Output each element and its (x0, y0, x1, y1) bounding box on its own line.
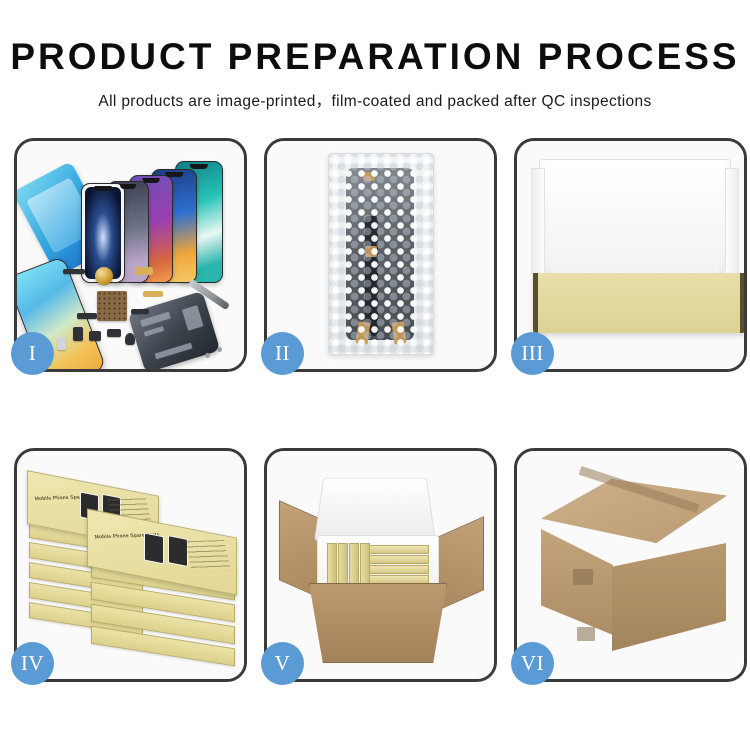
foam-sheet-icon (551, 187, 719, 273)
step-badge-6: VI (511, 642, 554, 685)
carton-body-icon (309, 583, 447, 663)
gold-flex-icon (135, 267, 153, 275)
flex-part-icon (107, 329, 121, 337)
step-panel-6: VI (514, 448, 747, 682)
notch-icon (165, 172, 183, 177)
step-panel-1: I (14, 138, 247, 372)
step-panel-3: III (514, 138, 747, 372)
carton-tab-icon (577, 627, 595, 641)
step-badge-5: V (261, 642, 304, 685)
bubble-wrap-bag-icon (328, 153, 434, 355)
carton-tab-icon (573, 569, 593, 585)
yellow-boxes-inside (325, 543, 429, 587)
step-panel-4: Mobile Phone Spare Parts Mobile Phone Sp… (14, 448, 247, 682)
phone-lineup (79, 153, 239, 283)
step-1-image (17, 141, 244, 369)
infographic-page: PRODUCT PREPARATION PROCESS All products… (0, 0, 750, 750)
step-3-image (517, 141, 744, 369)
header: PRODUCT PREPARATION PROCESS All products… (0, 0, 750, 111)
carton-right-face-icon (612, 543, 726, 651)
flex-part-icon (131, 309, 149, 314)
flex-part-icon (63, 269, 85, 274)
page-title: PRODUCT PREPARATION PROCESS (0, 38, 750, 77)
flex-part-icon (89, 331, 101, 341)
step-badge-3: III (511, 332, 554, 375)
notch-icon (120, 184, 136, 189)
speaker-part-icon (125, 333, 135, 345)
step-badge-1: I (11, 332, 54, 375)
notch-icon (95, 186, 112, 191)
chip-array-icon (97, 291, 127, 321)
notch-icon (143, 178, 160, 183)
flex-part-icon (77, 313, 97, 319)
speaker-coil-icon (95, 267, 113, 285)
yellow-box-tray-icon (533, 273, 744, 333)
flex-part-icon (73, 327, 83, 341)
box-spec-lines (185, 540, 231, 572)
step-6-image (517, 451, 744, 679)
screw-icon (217, 347, 222, 352)
step-panel-2: II (264, 138, 497, 372)
styrofoam-lid-icon (314, 478, 436, 541)
screw-icon (205, 353, 210, 358)
phone-thumbnail-icon (168, 535, 188, 567)
process-steps-grid: I II (14, 138, 747, 682)
step-badge-2: II (261, 332, 304, 375)
phone-thumbnail-icon (144, 533, 164, 565)
step-badge-4: IV (11, 642, 54, 685)
notch-icon (190, 164, 208, 169)
bubble-texture (329, 154, 433, 354)
step-4-image: Mobile Phone Spare Parts Mobile Phone Sp… (17, 451, 244, 679)
step-2-image (267, 141, 494, 369)
camera-lens-icon (57, 337, 66, 350)
step-5-image (267, 451, 494, 679)
page-subtitle: All products are image-printed，film-coat… (0, 89, 750, 111)
step-panel-5: V (264, 448, 497, 682)
box-stack: Mobile Phone Spare Parts Mobile Phone Sp… (25, 467, 241, 667)
gold-flex-icon (143, 291, 163, 297)
